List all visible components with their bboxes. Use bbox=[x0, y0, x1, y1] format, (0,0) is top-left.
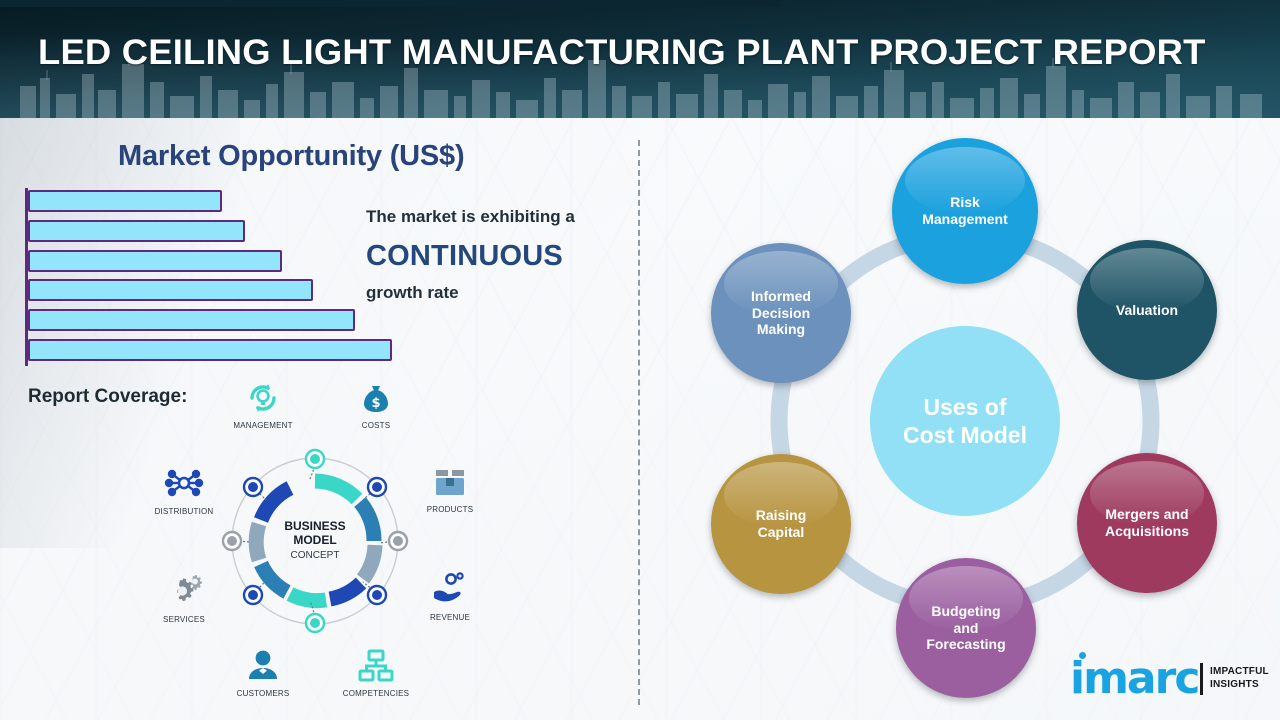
center-node: Uses of Cost Model bbox=[870, 326, 1060, 516]
logo-tagline: IMPACTFUL INSIGHTS bbox=[1210, 666, 1269, 691]
node-label-line: Forecasting bbox=[926, 636, 1005, 652]
node-raising-capital[interactable]: RaisingCapital bbox=[711, 454, 851, 594]
coverage-item-management[interactable]: MANAGEMENT bbox=[215, 378, 311, 430]
coverage-label: REVENUE bbox=[402, 613, 498, 622]
imarc-logo[interactable]: imarc IMPACTFUL INSIGHTS bbox=[1070, 655, 1270, 707]
bar-row bbox=[28, 309, 355, 331]
node-mergers-acquisitions[interactable]: Mergers andAcquisitions bbox=[1077, 453, 1217, 593]
node-label-line: Making bbox=[757, 321, 805, 337]
distribution-icon bbox=[163, 462, 205, 504]
costs-icon: $ bbox=[356, 378, 396, 418]
coverage-label: COSTS bbox=[328, 421, 424, 430]
competencies-icon bbox=[356, 646, 396, 686]
node-risk-management[interactable]: RiskManagement bbox=[892, 138, 1038, 284]
bar-row bbox=[28, 220, 245, 242]
bm-line-3: CONCEPT bbox=[265, 550, 365, 561]
bm-line-2: MODEL bbox=[265, 534, 365, 548]
callout-line-1: The market is exhibiting a bbox=[366, 207, 575, 227]
node-label-line: Budgeting bbox=[931, 603, 1000, 619]
node-label-line: Decision bbox=[752, 305, 810, 321]
customers-icon bbox=[243, 646, 283, 686]
logo-divider bbox=[1200, 663, 1203, 695]
coverage-item-distribution[interactable]: DISTRIBUTION bbox=[136, 462, 232, 516]
market-opportunity-title: Market Opportunity (US$) bbox=[118, 140, 464, 173]
node-label-line: Capital bbox=[758, 524, 805, 540]
node-label-line: Risk bbox=[950, 194, 980, 210]
svg-text:$: $ bbox=[371, 396, 380, 411]
node-label-line: Valuation bbox=[1116, 302, 1178, 318]
coverage-label: DISTRIBUTION bbox=[136, 507, 232, 516]
header-top-strip bbox=[0, 0, 780, 7]
node-label-line: Management bbox=[922, 211, 1008, 227]
management-icon bbox=[243, 378, 283, 418]
coverage-label: COMPETENCIES bbox=[328, 689, 424, 698]
callout-emphasis: CONTINUOUS bbox=[366, 240, 563, 273]
center-line-1: Uses of bbox=[923, 394, 1006, 420]
logo-tagline-line-1: IMPACTFUL bbox=[1210, 666, 1269, 679]
node-label-line: Acquisitions bbox=[1105, 523, 1189, 539]
coverage-label: SERVICES bbox=[136, 615, 232, 624]
page-title: LED CEILING LIGHT MANUFACTURING PLANT PR… bbox=[38, 33, 1206, 73]
bar-row bbox=[28, 279, 313, 301]
callout-line-3: growth rate bbox=[366, 283, 459, 303]
node-valuation[interactable]: Valuation bbox=[1077, 240, 1217, 380]
coverage-item-revenue[interactable]: REVENUE bbox=[402, 570, 498, 622]
node-label-line: Raising bbox=[756, 507, 807, 523]
header-banner: LED CEILING LIGHT MANUFACTURING PLANT PR… bbox=[0, 0, 1280, 118]
node-label-line: Informed bbox=[751, 288, 811, 304]
node-budgeting-forecasting[interactable]: BudgetingandForecasting bbox=[896, 558, 1036, 698]
bar-row bbox=[28, 190, 222, 212]
revenue-icon bbox=[429, 570, 471, 610]
bm-line-1: BUSINESS bbox=[265, 520, 365, 534]
coverage-item-services[interactable]: SERVICES bbox=[136, 570, 232, 624]
uses-of-cost-model-diagram: Uses of Cost Model RiskManagement Valuat… bbox=[640, 118, 1280, 720]
node-label-line: and bbox=[954, 620, 979, 636]
logo-tagline-line-2: INSIGHTS bbox=[1210, 679, 1269, 692]
node-label-line: Mergers and bbox=[1105, 506, 1188, 522]
report-coverage-diagram: BUSINESS MODEL CONCEPT MANAGEMENT $ bbox=[130, 378, 470, 708]
products-icon bbox=[430, 462, 470, 502]
coverage-label: CUSTOMERS bbox=[215, 689, 311, 698]
business-model-center-text: BUSINESS MODEL CONCEPT bbox=[265, 520, 365, 561]
coverage-label: MANAGEMENT bbox=[215, 421, 311, 430]
bar-row bbox=[28, 250, 282, 272]
coverage-item-costs[interactable]: $ COSTS bbox=[328, 378, 424, 430]
bar-row bbox=[28, 339, 392, 361]
coverage-item-products[interactable]: PRODUCTS bbox=[402, 462, 498, 514]
slide-root: LED CEILING LIGHT MANUFACTURING PLANT PR… bbox=[0, 0, 1280, 720]
services-icon bbox=[163, 570, 205, 612]
coverage-label: PRODUCTS bbox=[402, 505, 498, 514]
market-opportunity-bar-chart bbox=[25, 188, 425, 366]
coverage-item-customers[interactable]: CUSTOMERS bbox=[215, 646, 311, 698]
logo-wordmark: imarc bbox=[1070, 657, 1198, 701]
node-informed-decision-making[interactable]: InformedDecisionMaking bbox=[711, 243, 851, 383]
center-line-2: Cost Model bbox=[903, 422, 1027, 448]
coverage-item-competencies[interactable]: COMPETENCIES bbox=[328, 646, 424, 698]
